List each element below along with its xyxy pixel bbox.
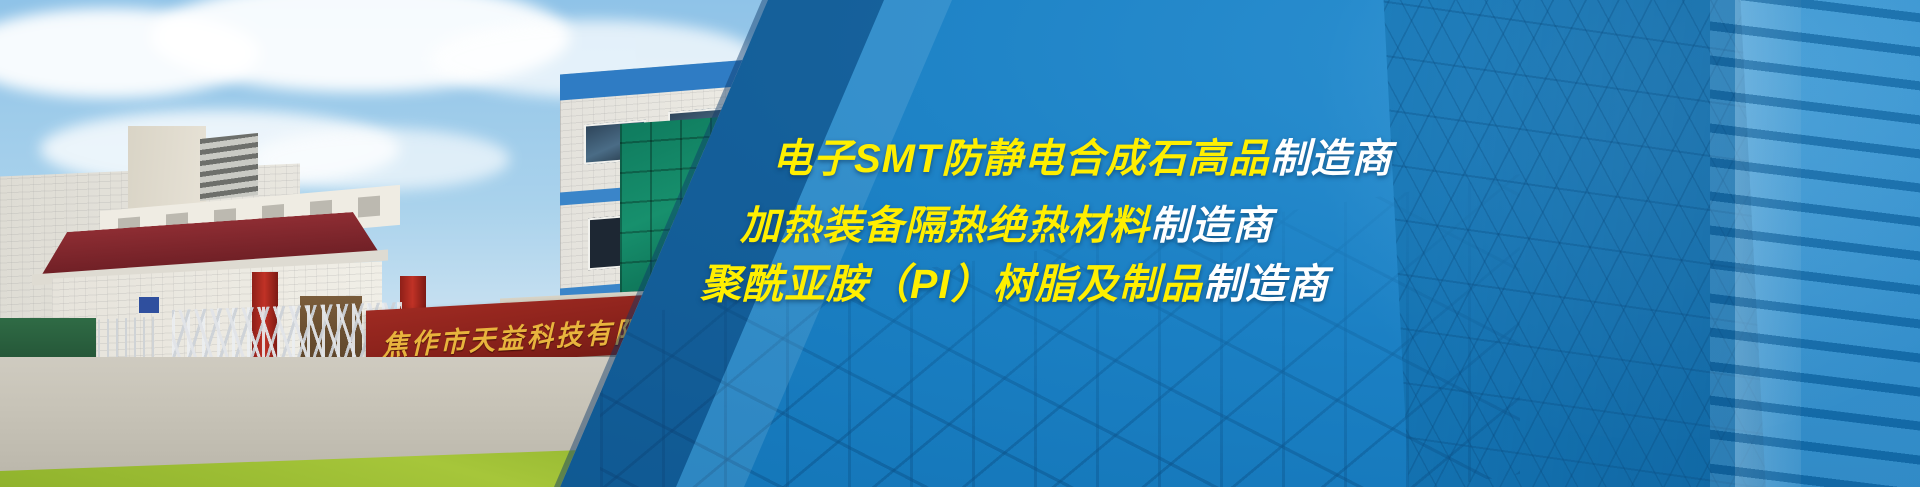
headline-line-3-highlight: 聚酰亚胺（PI）树脂及制品: [700, 261, 1203, 307]
headline-line-2-plain: 制造商: [1150, 204, 1273, 248]
parapet-opening: [358, 196, 380, 218]
rooftop-louver: [200, 133, 258, 201]
headline-line-2: 加热装备隔热绝热材料制造商: [740, 193, 1273, 251]
headline-line-1-highlight: 电子SMT防静电合成石高品: [772, 137, 1269, 181]
headline-line-1-plain: 制造商: [1269, 137, 1392, 181]
headline-line-3-plain: 制造商: [1203, 261, 1329, 307]
headline-line-1: 电子SMT防静电合成石高品制造商: [772, 126, 1392, 184]
headline-line-3: 聚酰亚胺（PI）树脂及制品制造商: [700, 250, 1329, 310]
headline-line-2-highlight: 加热装备隔热绝热材料: [740, 204, 1150, 248]
horizontal-louver-slats-icon: [1710, 0, 1920, 487]
wall-plaque: [138, 296, 160, 314]
hero-banner: 焦作市天益科技有限公司 电子SMT防静电合成石高品制造商 加热装备隔热绝热材料制…: [0, 0, 1920, 487]
